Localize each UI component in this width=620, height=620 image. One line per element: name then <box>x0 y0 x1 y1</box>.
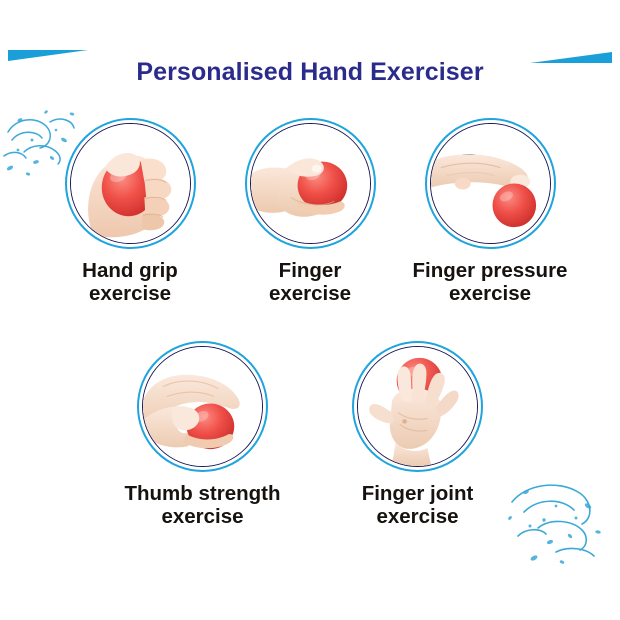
caption-line-1: Finger <box>279 259 342 282</box>
caption-line-2: exercise <box>362 506 474 529</box>
caption-line-2: exercise <box>413 283 568 306</box>
product-infographic: Personalised Hand Exerciser <box>0 0 620 620</box>
caption-line-2: exercise <box>269 283 351 306</box>
caption-line-1: Hand grip <box>82 259 178 282</box>
exercise-row-top: Hand grip exercise <box>0 118 620 306</box>
finger-joint-photo-ring <box>352 341 483 472</box>
exercise-caption: Finger pressure exercise <box>413 260 568 306</box>
finger-pressure-photo-ring <box>425 118 556 249</box>
hand-grip-squeezing-ball-icon <box>71 124 190 243</box>
open-hand-spread-fingers-ball-icon <box>358 347 477 466</box>
caption-line-1: Finger pressure <box>413 259 568 282</box>
exercise-item-thumb-strength[interactable]: Thumb strength exercise <box>95 341 310 529</box>
finger-photo-ring <box>245 118 376 249</box>
thumb-pressing-ball-icon <box>143 347 262 466</box>
exercise-item-hand-grip[interactable]: Hand grip exercise <box>40 118 220 306</box>
caption-line-1: Thumb strength <box>124 482 280 505</box>
exercise-item-finger[interactable]: Finger exercise <box>220 118 400 306</box>
exercise-row-bottom: Thumb strength exercise <box>0 341 620 529</box>
thumb-strength-photo-ring <box>137 341 268 472</box>
exercise-caption: Thumb strength exercise <box>124 483 280 529</box>
fingers-pressing-ball-icon <box>431 124 550 243</box>
exercise-item-finger-joint[interactable]: Finger joint exercise <box>310 341 525 529</box>
exercise-caption: Finger exercise <box>269 260 351 306</box>
exercise-caption: Hand grip exercise <box>82 260 178 306</box>
exercise-item-finger-pressure[interactable]: Finger pressure exercise <box>400 118 580 306</box>
caption-line-2: exercise <box>124 506 280 529</box>
hand-grip-photo-ring <box>65 118 196 249</box>
caption-line-1: Finger joint <box>362 482 474 505</box>
fingers-holding-ball-icon <box>251 124 370 243</box>
page-title: Personalised Hand Exerciser <box>0 58 620 87</box>
exercise-caption: Finger joint exercise <box>362 483 474 529</box>
caption-line-2: exercise <box>82 283 178 306</box>
